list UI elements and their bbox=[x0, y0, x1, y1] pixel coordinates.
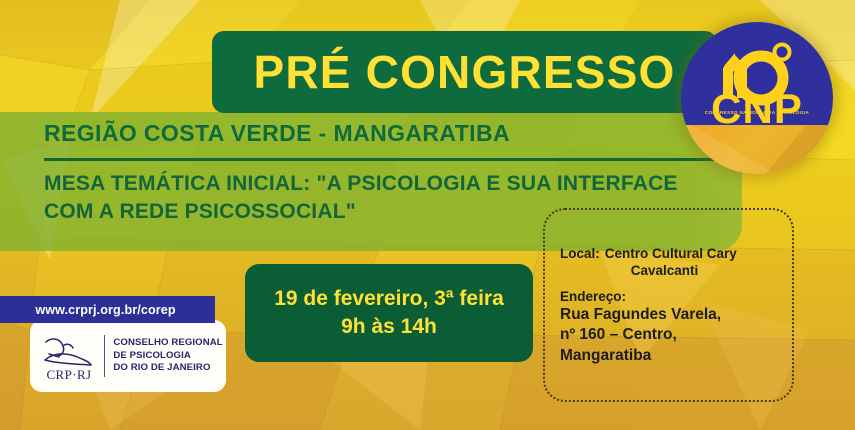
main-title-plate: PRÉ CONGRESSO bbox=[212, 31, 717, 113]
crp-logo-text: CONSELHO REGIONAL DE PSICOLOGIA DO RIO D… bbox=[113, 337, 222, 375]
venue-local-value: Centro Cultural Cary Cavalcanti bbox=[605, 245, 737, 280]
venue-local-label: Local: bbox=[560, 246, 600, 261]
event-banner: PRÉ CONGRESSO REGIÃO COSTA VERDE - MANGA… bbox=[0, 0, 855, 430]
crp-logo-divider bbox=[104, 335, 105, 377]
divider-rule bbox=[44, 158, 716, 161]
venue-info-content: Local: Centro Cultural Cary Cavalcanti E… bbox=[560, 245, 788, 367]
crp-text-line-3: DO RIO DE JANEIRO bbox=[113, 362, 222, 375]
website-url-text: www.crprj.org.br/corep bbox=[35, 303, 175, 317]
date-time-plate: 19 de fevereiro, 3ª feira 9h às 14h bbox=[245, 264, 533, 362]
venue-local-value-line-1: Centro Cultural Cary bbox=[605, 246, 737, 261]
crp-rj-logo-card: CRP·RJ CONSELHO REGIONAL DE PSICOLOGIA D… bbox=[30, 320, 226, 392]
theme-line-1: MESA TEMÁTICA INICIAL: "A PSICOLOGIA E S… bbox=[44, 170, 734, 198]
crp-rj-mark: CRP·RJ bbox=[30, 330, 102, 382]
svg-text:CNP: CNP bbox=[711, 85, 803, 132]
venue-address-line-3: Mangaratiba bbox=[560, 346, 788, 367]
venue-address-line-2: nº 160 – Centro, bbox=[560, 325, 788, 346]
website-url-bar[interactable]: www.crprj.org.br/corep bbox=[0, 296, 215, 323]
region-subtitle: REGIÃO COSTA VERDE - MANGARATIBA bbox=[44, 120, 510, 147]
venue-address-line-1: Rua Fagundes Varela, bbox=[560, 305, 788, 326]
crp-rj-acronym: CRP·RJ bbox=[46, 367, 91, 382]
cnp-logo: CNP CONGRESSO NACIONAL DA PSICOLOGIA bbox=[681, 22, 833, 174]
venue-address-label: Endereço: bbox=[560, 289, 788, 304]
crp-text-line-1: CONSELHO REGIONAL bbox=[113, 337, 222, 350]
venue-local-value-line-2: Cavalcanti bbox=[605, 262, 737, 279]
cnp-logo-marks: CNP bbox=[681, 22, 833, 174]
crp-text-line-2: DE PSICOLOGIA bbox=[113, 350, 222, 363]
page-title: PRÉ CONGRESSO bbox=[253, 49, 675, 95]
time-line: 9h às 14h bbox=[341, 315, 437, 339]
cnp-logo-subtitle: CONGRESSO NACIONAL DA PSICOLOGIA bbox=[681, 110, 833, 115]
venue-local-row: Local: Centro Cultural Cary Cavalcanti bbox=[560, 245, 788, 280]
date-line: 19 de fevereiro, 3ª feira bbox=[274, 287, 504, 311]
venue-address: Rua Fagundes Varela, nº 160 – Centro, Ma… bbox=[560, 305, 788, 367]
